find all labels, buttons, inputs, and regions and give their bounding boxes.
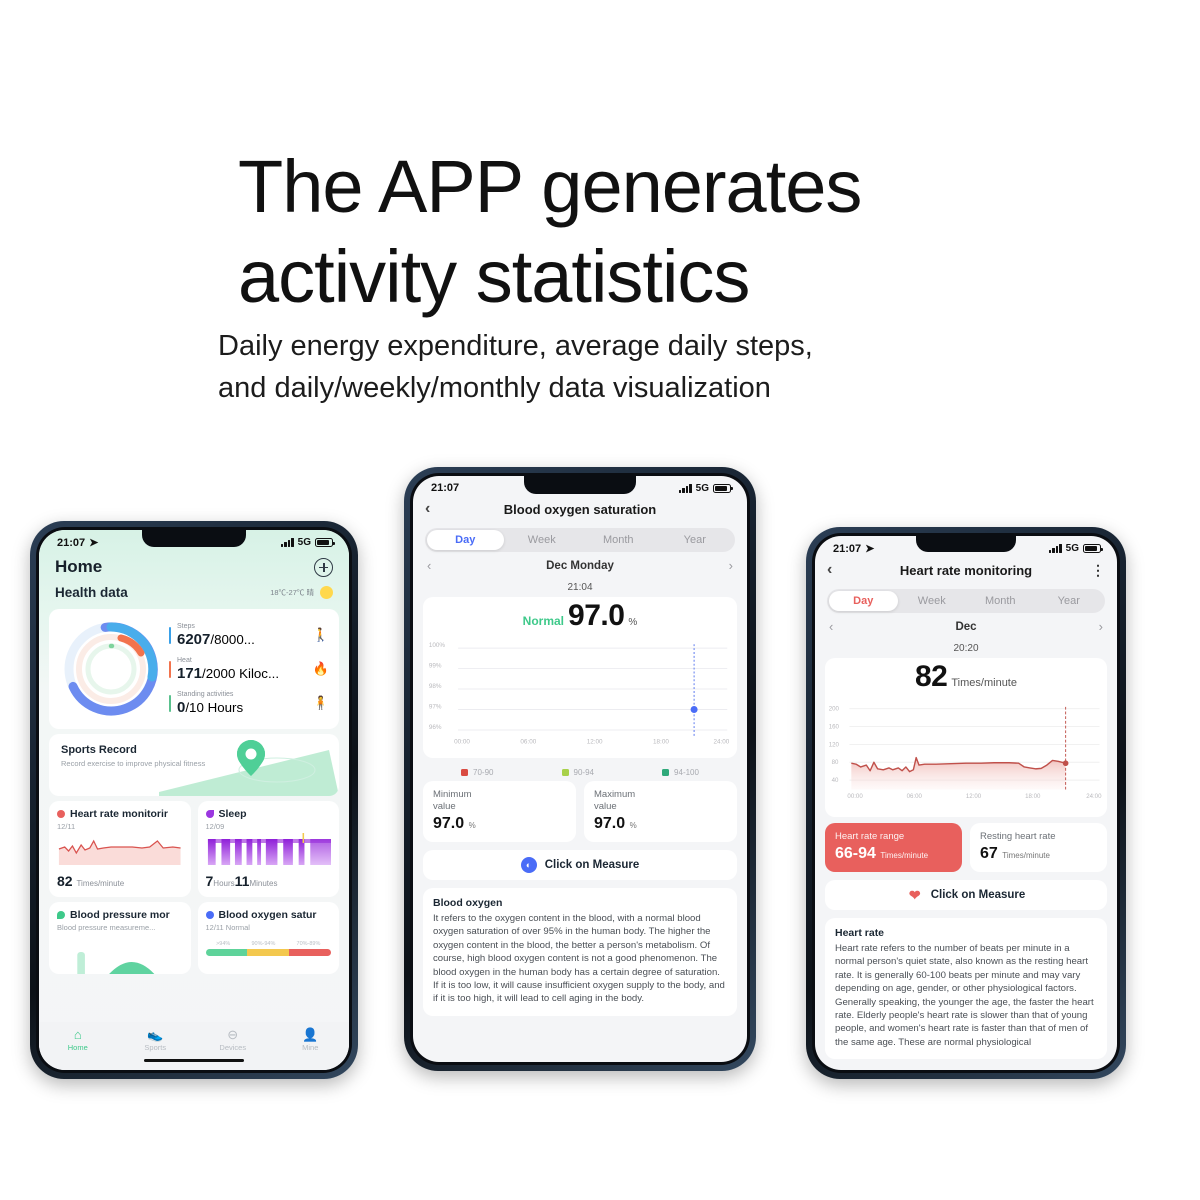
legend-swatch xyxy=(461,769,468,776)
card-value-minutes: 11 xyxy=(235,873,250,889)
svg-text:200: 200 xyxy=(829,706,840,713)
droplet-icon xyxy=(57,911,65,919)
heart-rate-chart[interactable]: 200160120 8040 00:0006:0012:00 18:0024:0… xyxy=(825,696,1107,806)
legend-item: 70-90 xyxy=(461,768,493,777)
metric-heat[interactable]: Heat 171/2000 Kiloc... 🔥 xyxy=(169,656,329,683)
stat-unit: Times/minute xyxy=(880,851,928,860)
segment-month[interactable]: Month xyxy=(580,530,657,550)
spo2-bar-label: 90%-94% xyxy=(251,941,275,947)
svg-text:24:00: 24:00 xyxy=(1086,793,1102,800)
spo2-status: Normal xyxy=(523,614,564,628)
chevron-left-icon[interactable]: ‹ xyxy=(827,561,849,579)
card-unit-hours: Hours xyxy=(213,879,234,888)
svg-text:96%: 96% xyxy=(429,724,442,731)
measure-label: Click on Measure xyxy=(545,859,640,871)
spo2-bar-label: >94% xyxy=(216,941,230,947)
watch-icon: ⊖ xyxy=(194,1027,272,1042)
current-date-label: Dec Monday xyxy=(546,560,614,572)
tab-sports[interactable]: 👟 Sports xyxy=(117,1027,195,1052)
tab-devices[interactable]: ⊖ Devices xyxy=(194,1027,272,1052)
svg-text:00:00: 00:00 xyxy=(454,739,470,746)
period-segmented-control: Day Week Month Year xyxy=(827,589,1105,613)
spo2-stats-row: Minimum value 97.0 % Maximum value 97.0 … xyxy=(423,781,737,842)
phone-right: 21:07 ➤ 5G ‹ Heart rate monitoring ⋮ Da xyxy=(806,527,1126,1079)
location-arrow-icon: ➤ xyxy=(89,536,98,549)
bp-illustration xyxy=(49,944,191,974)
card-title: Sleep xyxy=(219,808,247,820)
svg-text:12:00: 12:00 xyxy=(587,739,603,746)
prev-date-button[interactable]: ‹ xyxy=(829,619,833,634)
svg-text:98%: 98% xyxy=(429,683,442,690)
card-sleep[interactable]: Sleep 12/09 xyxy=(198,801,340,897)
health-data-header: Health data 18℃-27℃ 晴 xyxy=(39,579,349,604)
home-title: Home xyxy=(55,557,102,577)
spo2-legend: 70-90 90-94 94-100 xyxy=(413,763,747,779)
status-time: 21:07 xyxy=(431,482,459,494)
metric-standing[interactable]: Standing activities 0/10 Hours 🧍 xyxy=(169,690,329,717)
heart-icon xyxy=(57,810,65,818)
tab-label: Mine xyxy=(272,1043,350,1052)
home-header: Home xyxy=(39,551,349,579)
stat-minimum: Minimum value 97.0 % xyxy=(423,781,576,842)
next-date-button[interactable]: › xyxy=(729,558,733,573)
standing-icon: 🧍 xyxy=(313,695,329,711)
network-label: 5G xyxy=(696,483,709,494)
moon-icon xyxy=(206,810,214,818)
person-icon: 👤 xyxy=(272,1027,350,1042)
stat-label: Minimum value xyxy=(433,789,566,813)
svg-text:97%: 97% xyxy=(429,704,442,711)
blood-oxygen-screen: 21:07 5G ‹ Blood oxygen saturation Day W… xyxy=(413,476,747,1062)
segment-week[interactable]: Week xyxy=(898,591,967,611)
card-title: Heart rate monitorir xyxy=(70,808,168,820)
metric-label: Standing activities xyxy=(177,690,307,699)
svg-text:24:00: 24:00 xyxy=(713,739,729,746)
bottom-tab-bar: ⌂ Home 👟 Sports ⊖ Devices 👤 Mine xyxy=(39,1022,349,1070)
reading-time: 20:20 xyxy=(815,636,1117,656)
spo2-range-bar xyxy=(206,949,332,956)
app-bar: ‹ Blood oxygen saturation xyxy=(413,496,747,524)
stat-value: 97.0 xyxy=(594,815,625,832)
stat-maximum: Maximum value 97.0 % xyxy=(584,781,737,842)
svg-text:100%: 100% xyxy=(429,642,446,649)
metric-steps[interactable]: Steps 6207/8000... 🚶 xyxy=(169,622,329,649)
reading-time: 21:04 xyxy=(413,575,747,595)
spo2-chart-card: Normal 97.0 % 100%99%98% 97%96% xyxy=(423,597,737,758)
signal-icon xyxy=(679,484,692,493)
info-title: Heart rate xyxy=(835,927,1097,939)
stat-label: Heart rate range xyxy=(835,831,952,843)
info-panel: Heart rate Heart rate refers to the numb… xyxy=(825,918,1107,1059)
tab-label: Home xyxy=(39,1043,117,1052)
stat-label: Maximum value xyxy=(594,789,727,813)
stat-unit: Times/minute xyxy=(1002,851,1050,860)
metric-value: 6207 xyxy=(177,631,210,648)
notch xyxy=(524,476,636,494)
phone-right-bezel: 21:07 ➤ 5G ‹ Heart rate monitoring ⋮ Da xyxy=(812,533,1120,1073)
signal-icon xyxy=(281,538,294,547)
oxygen-icon: ◐ xyxy=(521,857,537,873)
legend-swatch xyxy=(562,769,569,776)
date-navigator: ‹ Dec Monday › xyxy=(413,552,747,575)
promo-page: The APP generates activity statistics Da… xyxy=(0,0,1200,1200)
card-title: Blood pressure mor xyxy=(70,909,170,921)
svg-text:00:00: 00:00 xyxy=(847,793,863,800)
legend-label: 90-94 xyxy=(574,768,594,777)
tab-label: Sports xyxy=(117,1043,195,1052)
metric-label: Steps xyxy=(177,622,307,631)
phone-left-bezel: 21:07 ➤ 5G Home xyxy=(36,527,352,1073)
card-unit: Times/minute xyxy=(76,879,124,888)
card-blood-oxygen[interactable]: Blood oxygen satur 12/11 Normal >94% 90%… xyxy=(198,902,340,974)
network-label: 5G xyxy=(298,537,311,548)
metric-bar xyxy=(169,695,171,712)
metric-cards-row-1: Heart rate monitorir 12/11 82 Times/minu… xyxy=(49,801,339,897)
home-icon: ⌂ xyxy=(39,1027,117,1042)
phone-center-bezel: 21:07 5G ‹ Blood oxygen saturation Day W… xyxy=(410,473,750,1065)
card-heart-rate[interactable]: Heart rate monitorir 12/11 82 Times/minu… xyxy=(49,801,191,897)
weather-info: 18℃-27℃ 晴 xyxy=(270,586,333,599)
home-indicator xyxy=(144,1059,244,1062)
more-vertical-icon[interactable]: ⋮ xyxy=(1083,562,1105,579)
metric-sub: /2000 Kiloc... xyxy=(202,666,279,681)
date-navigator: ‹ Dec › xyxy=(815,613,1117,636)
metric-sub: /8000... xyxy=(210,632,254,647)
health-data-title: Health data xyxy=(55,585,128,600)
activity-summary-card[interactable]: Steps 6207/8000... 🚶 Heat 171/2000 Kiloc… xyxy=(49,609,339,729)
walking-icon: 🚶 xyxy=(313,627,329,643)
segment-year[interactable]: Year xyxy=(657,530,734,550)
info-body: It refers to the oxygen content in the b… xyxy=(433,912,727,1006)
current-date-label: Dec xyxy=(955,621,976,633)
status-time: 21:07 xyxy=(57,537,85,549)
svg-text:160: 160 xyxy=(829,723,840,730)
legend-item: 90-94 xyxy=(562,768,594,777)
page-subtitle: Daily energy expenditure, average daily … xyxy=(218,325,998,409)
legend-label: 94-100 xyxy=(674,768,699,777)
card-date: 12/09 xyxy=(206,822,332,831)
stat-resting-heart-rate: Resting heart rate 67 Times/minute xyxy=(970,823,1107,872)
card-unit-minutes: Minutes xyxy=(249,879,277,888)
battery-icon xyxy=(1083,544,1101,553)
tab-home[interactable]: ⌂ Home xyxy=(39,1027,117,1052)
spo2-unit: % xyxy=(628,617,637,628)
svg-text:12:00: 12:00 xyxy=(966,793,982,800)
stat-value: 67 xyxy=(980,845,998,862)
battery-icon xyxy=(713,484,731,493)
info-panel: Blood oxygen It refers to the oxygen con… xyxy=(423,888,737,1016)
segment-year[interactable]: Year xyxy=(1035,591,1104,611)
screen-title: Blood oxygen saturation xyxy=(447,502,713,517)
period-segmented-control: Day Week Month Year xyxy=(425,528,735,552)
hr-value: 82 xyxy=(915,660,947,694)
plus-circle-icon[interactable] xyxy=(314,558,333,577)
metric-sub: /10 Hours xyxy=(185,700,243,715)
battery-icon xyxy=(315,538,333,547)
measure-label: Click on Measure xyxy=(931,889,1026,901)
segment-week[interactable]: Week xyxy=(504,530,581,550)
stat-label: Resting heart rate xyxy=(980,831,1097,843)
segment-month[interactable]: Month xyxy=(966,591,1035,611)
metric-value: 171 xyxy=(177,665,202,682)
hr-unit: Times/minute xyxy=(951,677,1017,689)
stat-value: 97.0 xyxy=(433,815,464,832)
legend-item: 94-100 xyxy=(662,768,699,777)
svg-text:06:00: 06:00 xyxy=(907,793,923,800)
segment-day[interactable]: Day xyxy=(829,591,898,611)
signal-icon xyxy=(1049,544,1062,553)
hr-readout: 82 Times/minute xyxy=(825,660,1107,696)
stat-unit: % xyxy=(469,821,476,830)
activity-rings xyxy=(59,617,163,721)
stat-unit: % xyxy=(630,821,637,830)
hr-stats-row: Heart rate range 66-94 Times/minute Rest… xyxy=(825,823,1107,872)
screen-title: Heart rate monitoring xyxy=(849,563,1083,578)
card-blood-pressure[interactable]: Blood pressure mor Blood pressure measur… xyxy=(49,902,191,974)
metric-bar xyxy=(169,661,171,678)
svg-text:99%: 99% xyxy=(429,663,442,670)
info-title: Blood oxygen xyxy=(433,897,727,909)
svg-text:120: 120 xyxy=(829,741,840,748)
measure-button[interactable]: ◐ Click on Measure xyxy=(423,850,737,880)
svg-text:06:00: 06:00 xyxy=(520,739,536,746)
spo2-readout: Normal 97.0 % xyxy=(423,599,737,635)
metric-cards-row-2: Blood pressure mor Blood pressure measur… xyxy=(49,902,339,974)
metric-label: Heat xyxy=(177,656,307,665)
card-date: 12/11 Normal xyxy=(206,923,332,932)
heart-rate-sparkline xyxy=(57,831,183,865)
measure-button[interactable]: ❤ Click on Measure xyxy=(825,880,1107,910)
shoe-icon: 👟 xyxy=(117,1027,195,1042)
stat-heart-rate-range: Heart rate range 66-94 Times/minute xyxy=(825,823,962,872)
sleep-bars xyxy=(206,831,332,865)
sun-icon xyxy=(320,586,333,599)
notch xyxy=(916,536,1016,552)
sports-illustration xyxy=(159,734,339,796)
card-subtitle: Blood pressure measureme... xyxy=(57,923,183,932)
tab-mine[interactable]: 👤 Mine xyxy=(272,1027,350,1052)
heart-pulse-icon: ❤ xyxy=(907,887,923,903)
home-screen: 21:07 ➤ 5G Home xyxy=(39,530,349,1070)
spo2-bar-label: 70%-89% xyxy=(297,941,321,947)
spo2-chart[interactable]: 100%99%98% 97%96% 00:0006:0012:00 18:002… xyxy=(423,635,737,747)
notch xyxy=(142,530,246,547)
status-time: 21:07 xyxy=(833,543,861,555)
tab-label: Devices xyxy=(194,1043,272,1052)
stat-value: 66-94 xyxy=(835,845,876,862)
legend-label: 70-90 xyxy=(473,768,493,777)
segment-day[interactable]: Day xyxy=(427,530,504,550)
metric-bar xyxy=(169,627,171,644)
svg-text:40: 40 xyxy=(832,777,839,784)
heart-rate-screen: 21:07 ➤ 5G ‹ Heart rate monitoring ⋮ Da xyxy=(815,536,1117,1070)
weather-temp: 18℃-27℃ 晴 xyxy=(270,587,314,598)
card-value: 82 xyxy=(57,873,73,889)
network-label: 5G xyxy=(1066,543,1079,554)
legend-swatch xyxy=(662,769,669,776)
card-title: Blood oxygen satur xyxy=(219,909,317,921)
svg-text:18:00: 18:00 xyxy=(653,739,669,746)
phone-center: 21:07 5G ‹ Blood oxygen saturation Day W… xyxy=(404,467,756,1071)
flame-icon: 🔥 xyxy=(313,661,329,677)
chevron-left-icon[interactable]: ‹ xyxy=(425,500,447,518)
circle-icon xyxy=(206,911,214,919)
heart-rate-chart-card: 82 Times/minute xyxy=(825,658,1107,817)
sports-record-card[interactable]: Sports Record Record exercise to improve… xyxy=(49,734,339,796)
metrics-list: Steps 6207/8000... 🚶 Heat 171/2000 Kiloc… xyxy=(169,622,329,717)
page-title: The APP generates activity statistics xyxy=(238,142,998,322)
spo2-value: 97.0 xyxy=(568,599,624,633)
prev-date-button[interactable]: ‹ xyxy=(427,558,431,573)
svg-text:18:00: 18:00 xyxy=(1025,793,1041,800)
app-bar: ‹ Heart rate monitoring ⋮ xyxy=(815,557,1117,585)
next-date-button[interactable]: › xyxy=(1099,619,1103,634)
card-date: 12/11 xyxy=(57,822,183,831)
location-arrow-icon: ➤ xyxy=(865,542,874,555)
svg-text:80: 80 xyxy=(832,759,839,766)
phone-left: 21:07 ➤ 5G Home xyxy=(30,521,358,1079)
info-body: Heart rate refers to the number of beats… xyxy=(835,942,1097,1049)
